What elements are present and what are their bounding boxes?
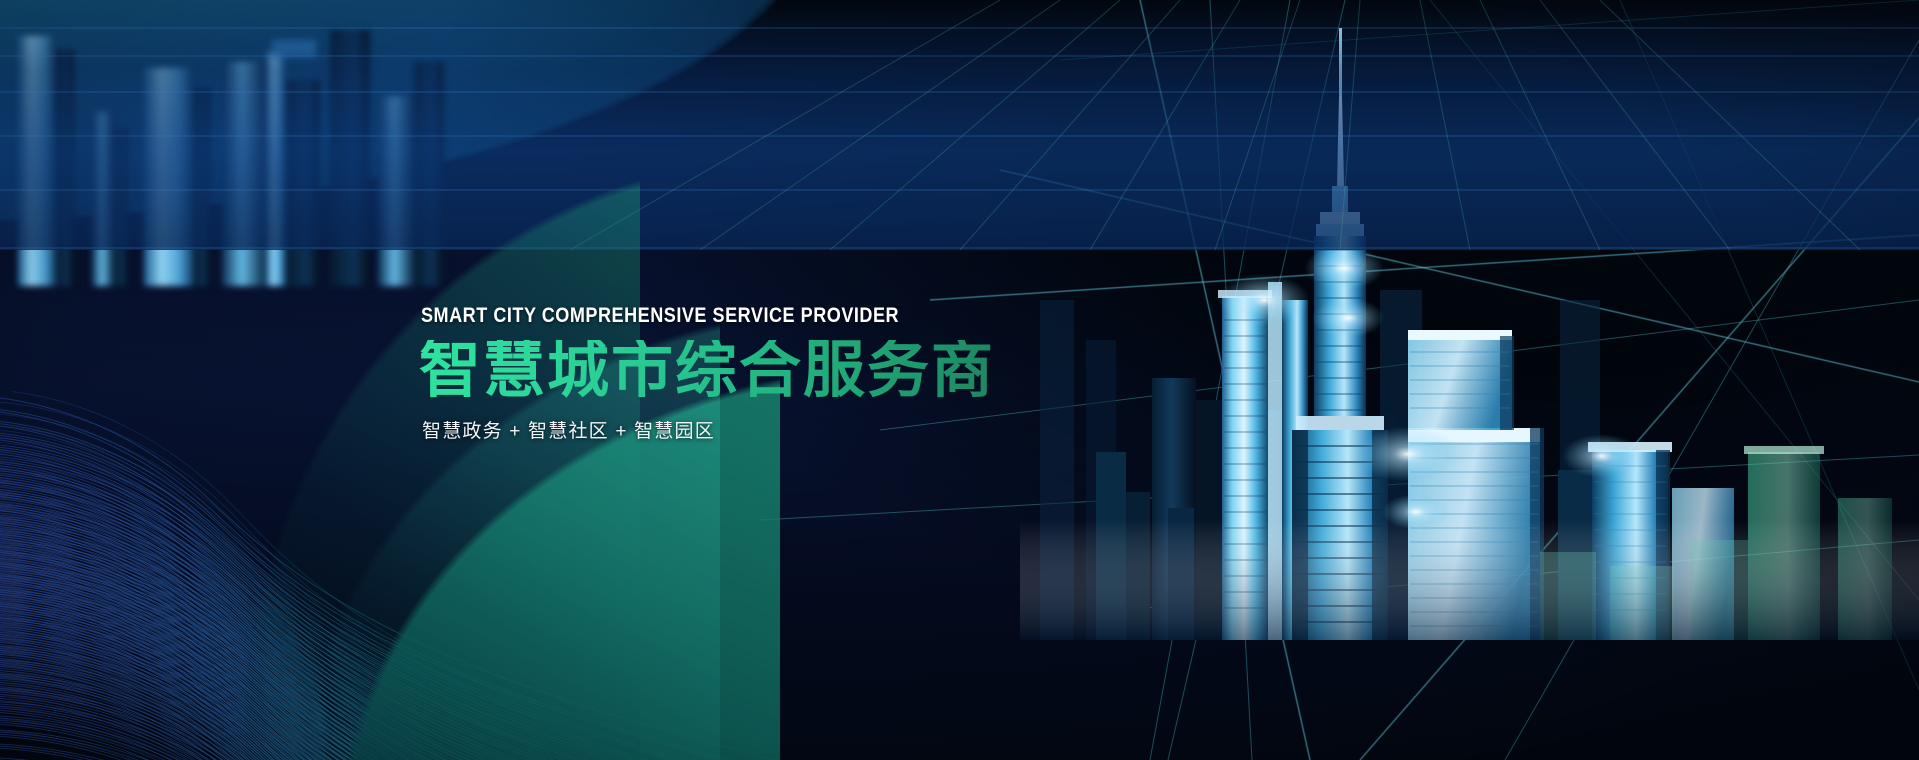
hero-banner: SMART CITY COMPREHENSIVE SERVICE PROVIDE…: [0, 0, 1919, 760]
hero-eyebrow: SMART CITY COMPREHENSIVE SERVICE PROVIDE…: [421, 305, 1021, 326]
hero-text-block: SMART CITY COMPREHENSIVE SERVICE PROVIDE…: [419, 305, 1119, 441]
hero-tagline: 智慧政务 + 智慧社区 + 智慧园区: [422, 422, 1119, 441]
hero-headline: 智慧城市综合服务商: [419, 340, 1119, 402]
